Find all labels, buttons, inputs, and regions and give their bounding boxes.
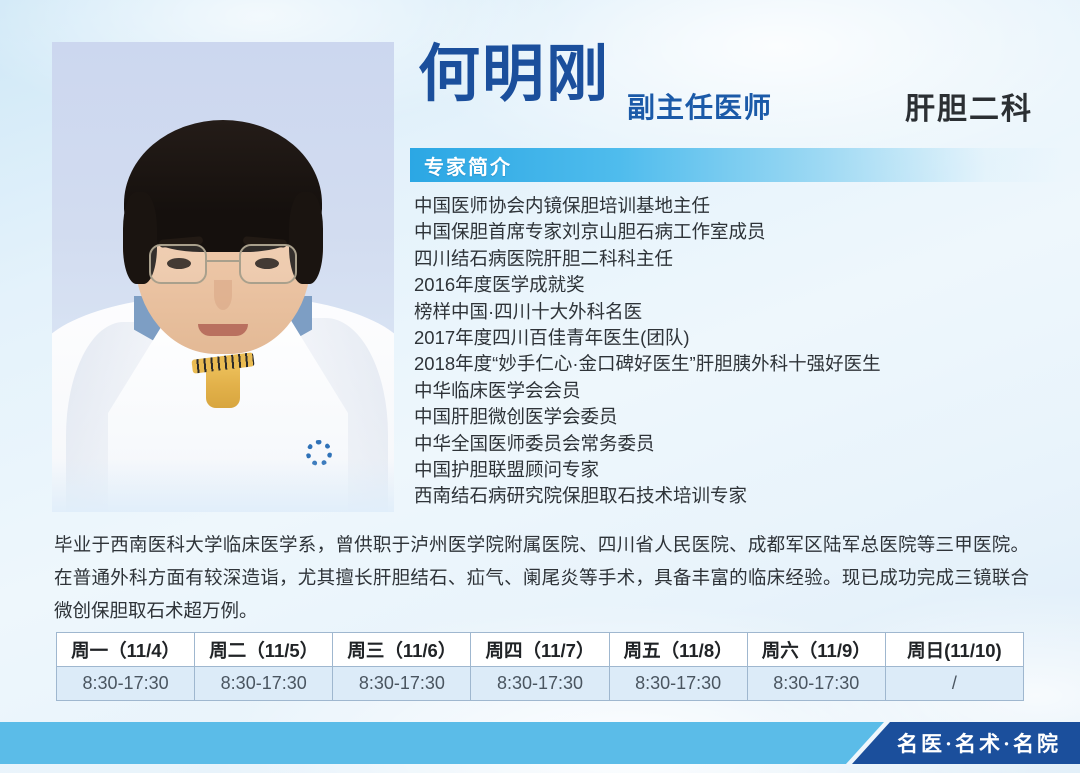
biography-text: 毕业于西南医科大学临床医学系，曾供职于泸州医学院附属医院、四川省人民医院、成都军… bbox=[54, 528, 1029, 627]
eyeglass-lens-right bbox=[239, 244, 297, 284]
credential-item: 四川结石病医院肝胆二科科主任 bbox=[414, 246, 1054, 272]
credential-item: 2017年度四川百佳青年医生(团队) bbox=[414, 325, 1054, 351]
schedule-day-time: 8:30-17:30 bbox=[195, 667, 333, 701]
schedule-day-header: 周日(11/10) bbox=[885, 633, 1023, 667]
department-name: 肝胆二科 bbox=[905, 84, 1033, 128]
doctor-name: 何明刚 bbox=[418, 44, 610, 106]
schedule-day-time: 8:30-17:30 bbox=[57, 667, 195, 701]
footer-slogan: 名医·名术·名院 bbox=[871, 728, 1061, 758]
footer-slogan-tag: 名医·名术·名院 bbox=[852, 722, 1080, 764]
schedule-day-time: 8:30-17:30 bbox=[609, 667, 747, 701]
schedule-day-header: 周二（11/5） bbox=[195, 633, 333, 667]
schedule-day-header: 周一（11/4） bbox=[57, 633, 195, 667]
schedule-day-time: 8:30-17:30 bbox=[471, 667, 609, 701]
schedule-day-header: 周四（11/7） bbox=[471, 633, 609, 667]
credential-item: 中华临床医学会会员 bbox=[414, 378, 1054, 404]
schedule-day-header: 周三（11/6） bbox=[333, 633, 471, 667]
schedule-day-time: / bbox=[885, 667, 1023, 701]
section-title: 专家简介 bbox=[424, 151, 512, 180]
credential-item: 中国保胆首席专家刘京山胆石病工作室成员 bbox=[414, 219, 1054, 245]
photo-bottom-fade bbox=[52, 458, 394, 512]
schedule-day-time: 8:30-17:30 bbox=[333, 667, 471, 701]
credential-item: 中国医师协会内镜保胆培训基地主任 bbox=[414, 193, 1054, 219]
doctor-rank: 副主任医师 bbox=[627, 86, 772, 126]
section-header-bar: 专家简介 bbox=[410, 148, 1065, 182]
clinic-schedule-table: 周一（11/4）周二（11/5）周三（11/6）周四（11/7）周五（11/8）… bbox=[56, 632, 1024, 701]
schedule-header-row: 周一（11/4）周二（11/5）周三（11/6）周四（11/7）周五（11/8）… bbox=[57, 633, 1024, 667]
schedule-day-header: 周五（11/8） bbox=[609, 633, 747, 667]
credential-item: 榜样中国·四川十大外科名医 bbox=[414, 299, 1054, 325]
footer-band bbox=[0, 722, 884, 764]
credential-item: 2016年度医学成就奖 bbox=[414, 272, 1054, 298]
credential-item: 中国护胆联盟顾问专家 bbox=[414, 457, 1054, 483]
schedule-day-header: 周六（11/9） bbox=[747, 633, 885, 667]
eyeglass-bridge bbox=[207, 260, 239, 262]
credential-item: 中华全国医师委员会常务委员 bbox=[414, 431, 1054, 457]
doctor-portrait bbox=[52, 42, 394, 512]
nose bbox=[214, 280, 232, 310]
doctor-profile-card: 何明刚 副主任医师 肝胆二科 专家简介 中国医师协会内镜保胆培训基地主任中国保胆… bbox=[0, 0, 1080, 773]
mouth bbox=[198, 324, 248, 336]
credential-item: 中国肝胆微创医学会委员 bbox=[414, 404, 1054, 430]
schedule-time-row: 8:30-17:308:30-17:308:30-17:308:30-17:30… bbox=[57, 667, 1024, 701]
schedule-day-time: 8:30-17:30 bbox=[747, 667, 885, 701]
eyeglass-lens-left bbox=[149, 244, 207, 284]
credential-item: 西南结石病研究院保胆取石技术培训专家 bbox=[414, 483, 1054, 509]
credentials-list: 中国医师协会内镜保胆培训基地主任中国保胆首席专家刘京山胆石病工作室成员四川结石病… bbox=[414, 193, 1054, 510]
credential-item: 2018年度“妙手仁心·金口碑好医生”肝胆胰外科十强好医生 bbox=[414, 351, 1054, 377]
